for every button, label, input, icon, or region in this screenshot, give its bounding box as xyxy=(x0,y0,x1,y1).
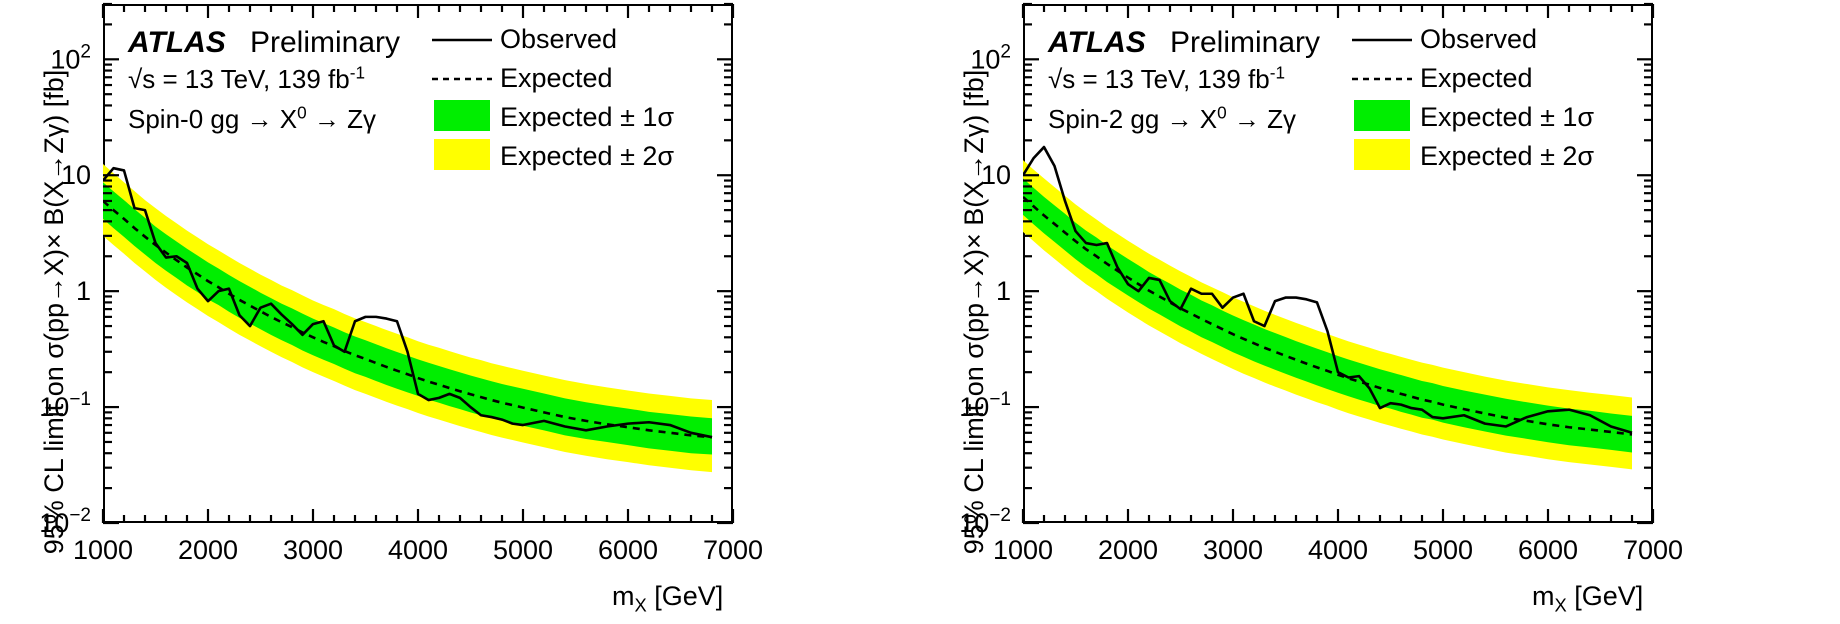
energy-lumi-label-left: √s = 13 TeV, 139 fb-1 xyxy=(128,66,365,92)
svg-text:3000: 3000 xyxy=(1203,535,1263,565)
legend-green-swatch-icon xyxy=(1354,100,1410,131)
legend-label-expected-1sigma-left: Expected ± 1σ xyxy=(500,104,674,131)
svg-text:10−2: 10−2 xyxy=(39,505,91,538)
atlas-logo-right: ATLAS xyxy=(1048,28,1146,58)
legend-label-expected-2sigma-right: Expected ± 2σ xyxy=(1420,143,1594,170)
panel-left: 95% CL limit on σ(pp→X)× B(X→Zγ) [fb] 10… xyxy=(0,0,920,624)
legend-yellow-swatch-icon xyxy=(434,139,490,170)
panel-right: 95% CL limit on σ(pp→X)× B(X→Zγ) [fb] 10… xyxy=(920,0,1840,624)
svg-text:2000: 2000 xyxy=(178,535,238,565)
process-label-right: Spin-2 gg → X0 → Zγ xyxy=(1048,106,1296,132)
atlas-logo-left: ATLAS xyxy=(128,28,226,58)
svg-text:5000: 5000 xyxy=(1413,535,1473,565)
svg-text:1: 1 xyxy=(76,276,91,306)
svg-text:10: 10 xyxy=(61,160,91,190)
svg-text:10: 10 xyxy=(981,160,1011,190)
x-axis-title-left: mX [GeV] xyxy=(612,583,723,615)
legend-label-observed-left: Observed xyxy=(500,26,617,53)
svg-text:6000: 6000 xyxy=(598,535,658,565)
svg-text:4000: 4000 xyxy=(1308,535,1368,565)
svg-text:102: 102 xyxy=(50,41,91,74)
svg-text:5000: 5000 xyxy=(493,535,553,565)
svg-text:1: 1 xyxy=(996,276,1011,306)
legend-yellow-swatch-icon xyxy=(1354,139,1410,170)
legend-label-expected-right: Expected xyxy=(1420,65,1533,92)
legend-markers xyxy=(432,40,492,170)
svg-text:1000: 1000 xyxy=(73,535,133,565)
energy-lumi-label-right: √s = 13 TeV, 139 fb-1 xyxy=(1048,66,1285,92)
atlas-limit-figure: 95% CL limit on σ(pp→X)× B(X→Zγ) [fb] 10… xyxy=(0,0,1840,624)
svg-text:4000: 4000 xyxy=(388,535,448,565)
preliminary-label-left: Preliminary xyxy=(250,28,400,58)
preliminary-label-right: Preliminary xyxy=(1170,28,1320,58)
legend-label-expected-1sigma-right: Expected ± 1σ xyxy=(1420,104,1594,131)
legend-green-swatch-icon xyxy=(434,100,490,131)
svg-text:10−1: 10−1 xyxy=(39,389,91,422)
band-1sigma xyxy=(103,182,712,454)
legend-markers xyxy=(1352,40,1412,170)
svg-text:1000: 1000 xyxy=(993,535,1053,565)
svg-text:2000: 2000 xyxy=(1098,535,1158,565)
svg-text:10−2: 10−2 xyxy=(959,505,1011,538)
svg-text:6000: 6000 xyxy=(1518,535,1578,565)
x-axis-title-right: mX [GeV] xyxy=(1532,583,1643,615)
svg-text:10−1: 10−1 xyxy=(959,389,1011,422)
svg-text:7000: 7000 xyxy=(703,535,763,565)
process-label-left: Spin-0 gg → X0 → Zγ xyxy=(128,106,376,132)
band-1sigma xyxy=(1023,178,1632,452)
legend-label-expected-2sigma-left: Expected ± 2σ xyxy=(500,143,674,170)
legend-label-expected-left: Expected xyxy=(500,65,613,92)
svg-text:7000: 7000 xyxy=(1623,535,1683,565)
svg-text:102: 102 xyxy=(970,41,1011,74)
legend-label-observed-right: Observed xyxy=(1420,26,1537,53)
svg-text:3000: 3000 xyxy=(283,535,343,565)
